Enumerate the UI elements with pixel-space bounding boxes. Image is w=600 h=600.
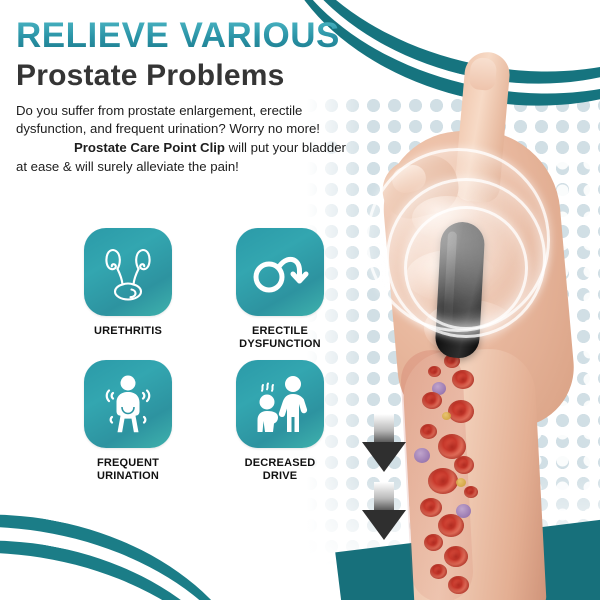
feature-tile <box>236 360 324 448</box>
feature-tile <box>84 360 172 448</box>
arrow-shaft <box>374 414 394 444</box>
platelet <box>456 478 466 487</box>
body-line-1: Do you suffer from prostate enlargement,… <box>16 103 302 118</box>
red-blood-cell <box>448 400 474 423</box>
male-symbol-drooping-arrow-icon <box>251 246 309 298</box>
swoosh-bottom-left-outer <box>0 476 286 600</box>
page-subtitle: Prostate Problems <box>16 60 416 92</box>
red-blood-cell <box>424 534 443 551</box>
feature-tile <box>84 228 172 316</box>
feature-grid: URETHRITIS ERECTILEDYSFUNCTION <box>52 228 356 484</box>
white-blood-cell <box>414 448 430 463</box>
blood-cell-group <box>408 352 548 600</box>
feature-urethritis: URETHRITIS <box>52 228 204 352</box>
feature-label: URETHRITIS <box>94 325 162 338</box>
feature-decreased-drive: DECREASEDDRIVE <box>204 360 356 484</box>
red-blood-cell <box>420 424 437 439</box>
red-blood-cell <box>428 468 458 494</box>
red-blood-cell <box>444 546 468 567</box>
arrow-head <box>362 510 406 540</box>
down-arrow-icon <box>362 414 406 472</box>
poster-canvas: RELIEVE VARIOUS Prostate Problems Do you… <box>0 0 600 600</box>
feature-label: DECREASEDDRIVE <box>245 457 316 484</box>
body-line-2: dysfunction, and frequent urination? Wor… <box>16 121 320 136</box>
index-fingernail <box>469 57 498 91</box>
feature-label: FREQUENTURINATION <box>97 457 159 484</box>
red-blood-cell <box>422 392 442 409</box>
feature-label-line-2: DYSFUNCTION <box>239 338 321 350</box>
feature-tile <box>236 228 324 316</box>
product-name: Prostate Care Point Clip <box>74 140 225 155</box>
red-blood-cell <box>448 576 469 594</box>
feature-frequent-urination: FREQUENTURINATION <box>52 360 204 484</box>
person-holding-bladder-icon <box>99 373 157 435</box>
downward-arrow-group <box>362 414 410 544</box>
body-line-4: at ease & will surely alleviate the pain… <box>16 159 239 174</box>
red-blood-cell <box>438 514 464 537</box>
kidneys-bladder-icon <box>100 242 156 302</box>
feature-label-line-1: DECREASED <box>245 457 316 469</box>
red-blood-cell <box>420 498 442 517</box>
couple-low-libido-icon <box>249 373 311 435</box>
red-blood-cell <box>428 366 441 377</box>
feature-label-line-1: ERECTILE <box>252 325 308 337</box>
page-title: RELIEVE VARIOUS <box>16 18 416 53</box>
platelet <box>442 412 451 420</box>
red-blood-cell <box>464 486 478 498</box>
swoosh-bottom-left-inner <box>0 502 286 600</box>
feature-label-line-2: DRIVE <box>263 470 298 482</box>
feature-label-line-1: FREQUENT <box>97 457 159 469</box>
body-line-3-rest: will put your bladder <box>225 140 346 155</box>
feature-label: ERECTILEDYSFUNCTION <box>239 325 321 352</box>
arrow-shaft <box>374 482 394 512</box>
down-arrow-icon <box>362 482 406 540</box>
feature-label-line-2: URINATION <box>97 470 159 482</box>
red-blood-cell <box>452 370 474 389</box>
arrow-head <box>362 442 406 472</box>
body-copy: Do you suffer from prostate enlargement,… <box>16 102 388 177</box>
red-blood-cell <box>454 456 474 474</box>
headline-block: RELIEVE VARIOUS Prostate Problems Do you… <box>16 18 416 176</box>
feature-erectile-dysfunction: ERECTILEDYSFUNCTION <box>204 228 356 352</box>
pulse-ring-inner <box>404 206 528 330</box>
red-blood-cell <box>430 564 447 579</box>
